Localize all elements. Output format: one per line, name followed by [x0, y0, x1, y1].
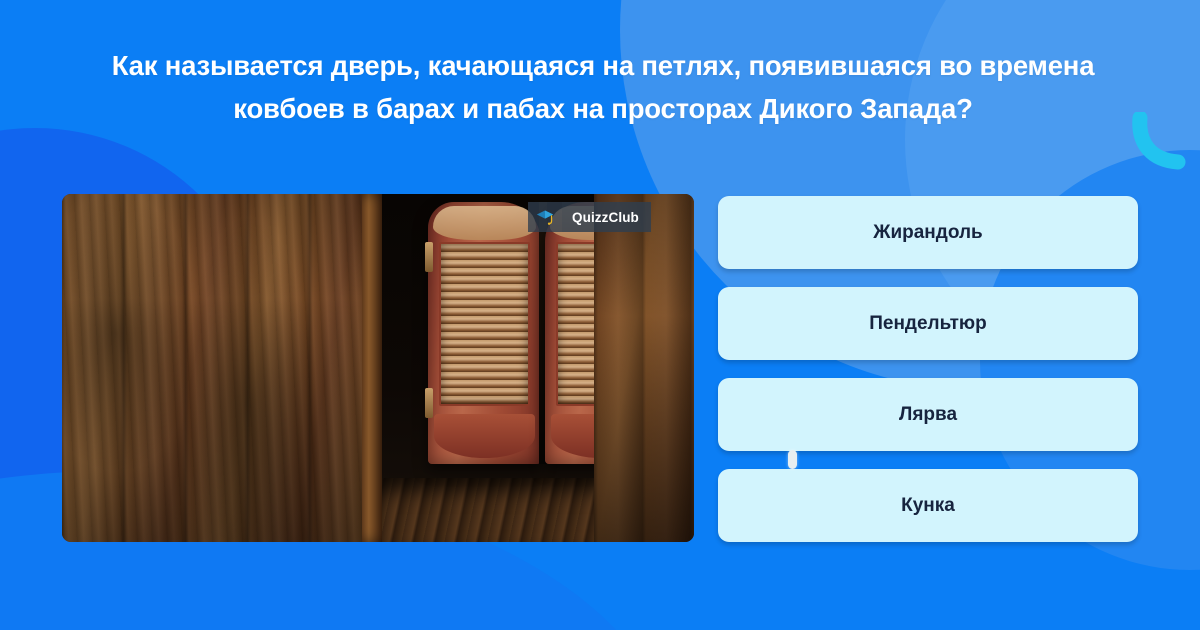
door-top-rail-left — [433, 206, 536, 240]
wall-planks-right — [594, 194, 694, 542]
saloon-doors-photo — [62, 194, 694, 542]
answer-option-3[interactable]: Лярва — [718, 378, 1138, 451]
answer-option-2[interactable]: Пендельтюр — [718, 287, 1138, 360]
answer-option-3-label: Лярва — [899, 404, 957, 426]
watermark-label: QuizzClub — [562, 202, 651, 232]
answer-option-1-label: Жирандоль — [873, 222, 982, 244]
door-louvers-left — [439, 242, 530, 406]
scroll-handle[interactable] — [788, 450, 797, 469]
wall-planks-left — [62, 194, 362, 542]
watermark-badge: QuizzClub — [528, 202, 651, 232]
door-bottom-rail-left — [434, 414, 535, 458]
graduation-cap-icon — [528, 202, 562, 232]
door-hinge-upper-left — [425, 242, 433, 272]
question-image: QuizzClub — [62, 194, 694, 542]
door-hinge-lower-left — [425, 388, 433, 418]
answer-option-2-label: Пендельтюр — [869, 313, 987, 335]
answer-options: Жирандоль Пендельтюр Лярва Кунка — [718, 196, 1138, 542]
answer-option-4-label: Кунка — [901, 495, 955, 517]
question-text: Как называется дверь, качающаяся на петл… — [60, 44, 1146, 130]
door-leaf-left — [428, 202, 541, 464]
quiz-card: Как называется дверь, качающаяся на петл… — [0, 0, 1200, 630]
answer-option-1[interactable]: Жирандоль — [718, 196, 1138, 269]
answer-option-4[interactable]: Кунка — [718, 469, 1138, 542]
